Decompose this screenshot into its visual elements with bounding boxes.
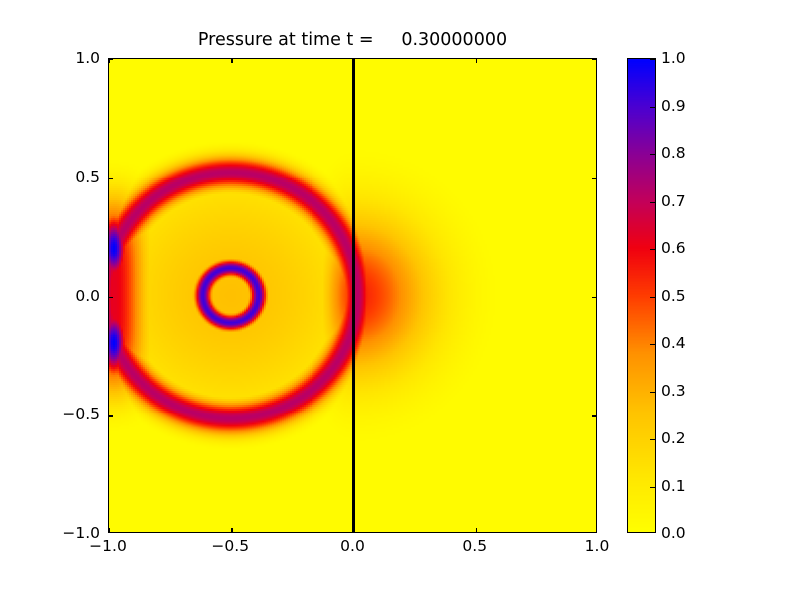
colorbar[interactable]: [627, 58, 656, 533]
material-interface-line: [352, 59, 355, 532]
colorbar-tick-mark: [650, 107, 655, 108]
colorbar-tick-label: 0.1: [661, 477, 686, 495]
colorbar-tick-label: 0.8: [661, 144, 686, 162]
colorbar-tick-label: 0.9: [661, 97, 686, 115]
y-tick-label: −1.0: [36, 524, 100, 542]
x-tick-mark: [231, 59, 232, 63]
y-tick-label: −0.5: [36, 405, 100, 423]
x-tick-mark: [109, 528, 110, 532]
page-title: Pressure at time t = 0.30000000: [108, 30, 597, 50]
colorbar-tick-mark: [650, 439, 655, 440]
x-tick-label: 0.0: [318, 537, 388, 555]
colorbar-tick-label: 0.7: [661, 192, 686, 210]
y-tick-label: 1.0: [36, 49, 100, 67]
colorbar-tick-label: 0.3: [661, 382, 686, 400]
colorbar-tick-mark: [650, 344, 655, 345]
y-tick-mark: [592, 59, 596, 60]
colorbar-tick-label: 0.4: [661, 334, 686, 352]
y-tick-mark: [109, 297, 113, 298]
x-tick-mark: [476, 59, 477, 63]
colorbar-tick-mark: [650, 59, 655, 60]
y-tick-label: 0.0: [36, 287, 100, 305]
colorbar-tick-label: 1.0: [661, 49, 686, 67]
pressure-field-axes[interactable]: [108, 58, 597, 533]
x-tick-mark: [354, 528, 355, 532]
x-tick-label: 1.0: [562, 537, 632, 555]
y-tick-label: 0.5: [36, 168, 100, 186]
x-tick-label: −0.5: [195, 537, 265, 555]
y-tick-mark: [109, 415, 113, 416]
y-tick-mark: [592, 297, 596, 298]
colorbar-gradient: [628, 59, 655, 532]
y-tick-mark: [592, 415, 596, 416]
colorbar-tick-label: 0.6: [661, 239, 686, 257]
colorbar-tick-label: 0.2: [661, 429, 686, 447]
colorbar-tick-mark: [650, 202, 655, 203]
y-tick-mark: [109, 178, 113, 179]
colorbar-tick-mark: [650, 392, 655, 393]
y-tick-mark: [109, 59, 113, 60]
colorbar-tick-mark: [650, 297, 655, 298]
x-tick-mark: [231, 528, 232, 532]
colorbar-tick-mark: [650, 154, 655, 155]
x-tick-label: 0.5: [440, 537, 510, 555]
y-tick-mark: [592, 178, 596, 179]
colorbar-tick-mark: [650, 249, 655, 250]
x-tick-mark: [476, 528, 477, 532]
figure-canvas: Pressure at time t = 0.30000000 −1.0−0.5…: [0, 0, 800, 600]
x-tick-mark: [354, 59, 355, 63]
colorbar-tick-mark: [650, 487, 655, 488]
colorbar-tick-label: 0.0: [661, 524, 686, 542]
colorbar-tick-label: 0.5: [661, 287, 686, 305]
